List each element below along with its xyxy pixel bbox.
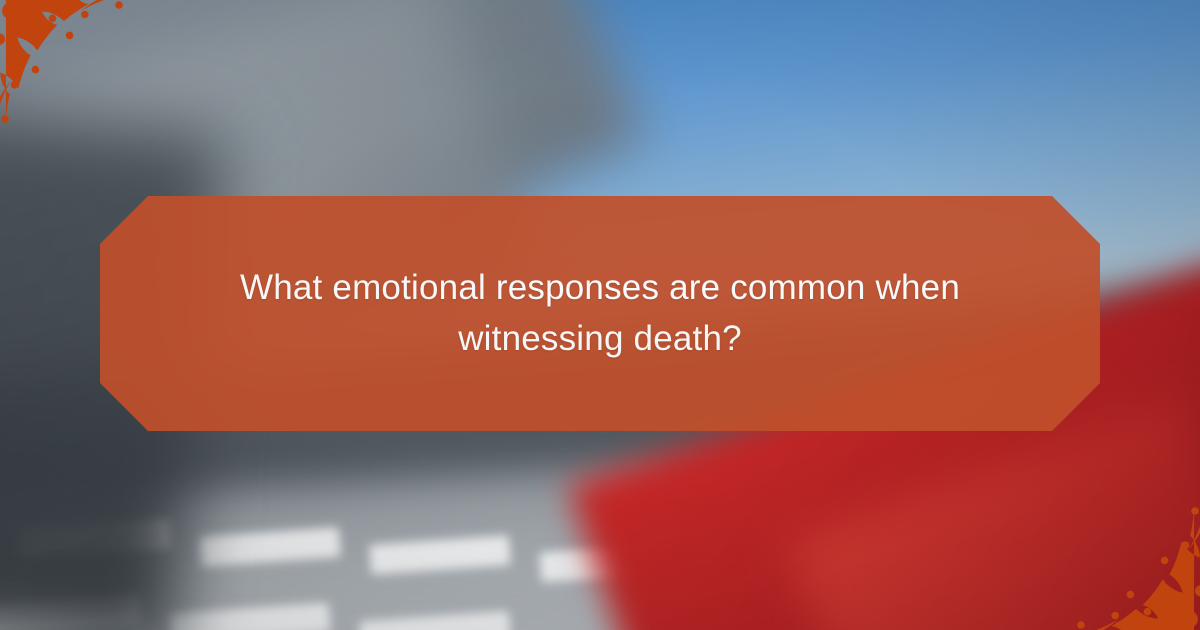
question-text: What emotional responses are common when… <box>160 263 1040 365</box>
question-card: What emotional responses are common when… <box>100 196 1100 431</box>
screenshot-root: What emotional responses are common when… <box>0 0 1200 630</box>
floral-corner-ornament-icon <box>0 0 176 176</box>
floral-corner-ornament-icon <box>1024 454 1200 630</box>
